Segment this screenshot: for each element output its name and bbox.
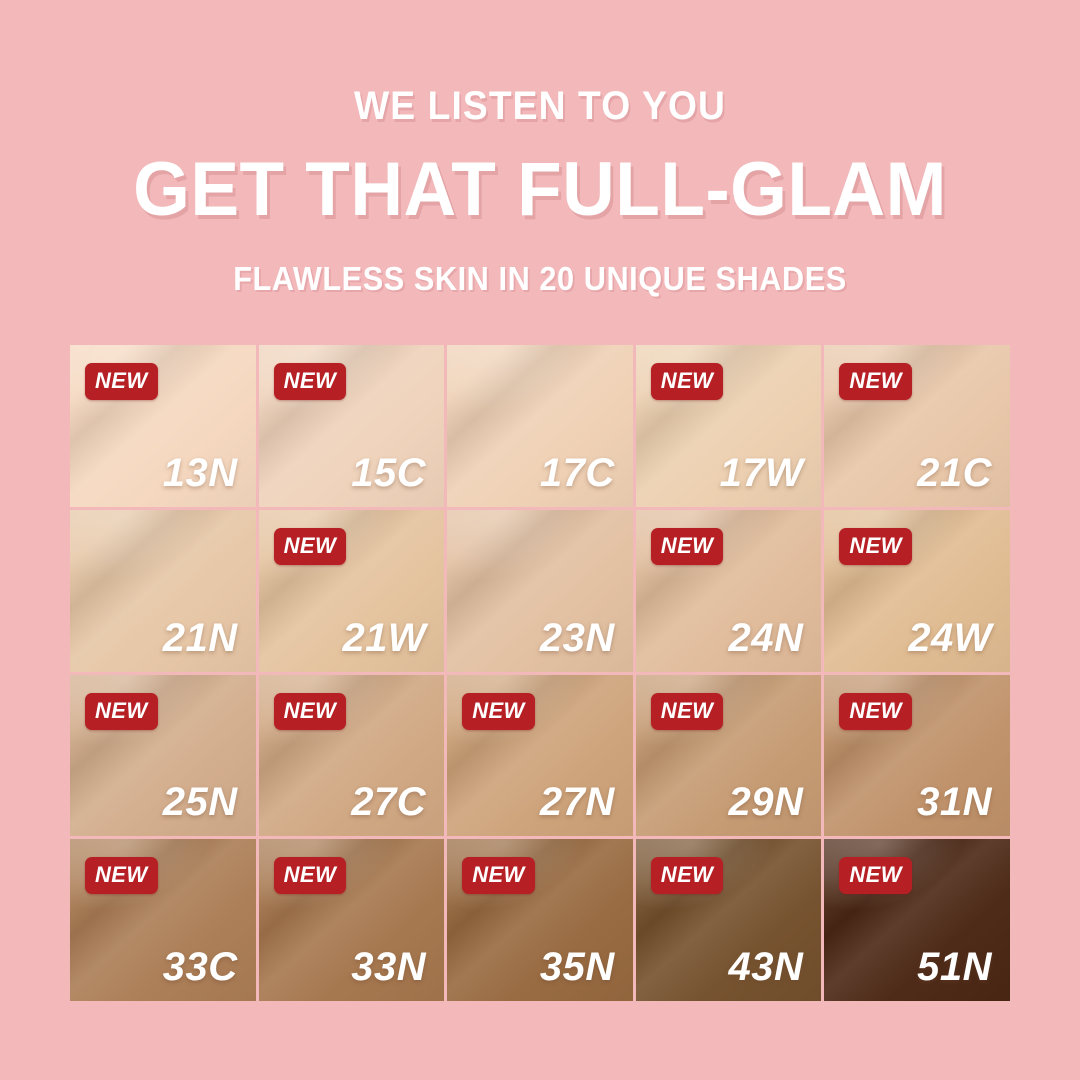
shade-label: 13N [163, 453, 238, 493]
shade-swatch[interactable]: NEW29N [636, 675, 822, 837]
shade-label: 24N [729, 618, 804, 658]
page-title: GET THAT FULL-GLAM [22, 152, 1059, 228]
shade-label: 17C [540, 453, 615, 493]
shade-swatch-grid: NEW13NNEW15CNEW17CNEW17WNEW21CNEW21NNEW2… [70, 345, 1010, 1001]
shade-label: 33N [351, 947, 426, 987]
new-badge: NEW [651, 693, 724, 730]
shade-swatch[interactable]: NEW24W [824, 510, 1010, 672]
shade-swatch[interactable]: NEW24N [636, 510, 822, 672]
shade-label: 15C [351, 453, 426, 493]
new-badge: NEW [274, 363, 347, 400]
new-badge: NEW [85, 857, 158, 894]
shade-swatch[interactable]: NEW27C [259, 675, 445, 837]
shade-swatch[interactable]: NEW23N [447, 510, 633, 672]
new-badge: NEW [651, 857, 724, 894]
shade-label: 21W [342, 618, 426, 658]
shade-swatch[interactable]: NEW21N [70, 510, 256, 672]
new-badge: NEW [85, 363, 158, 400]
shade-label: 21N [163, 618, 238, 658]
new-badge: NEW [651, 528, 724, 565]
shade-swatch[interactable]: NEW21W [259, 510, 445, 672]
shade-swatch[interactable]: NEW31N [824, 675, 1010, 837]
shade-label: 31N [917, 782, 992, 822]
shade-label: 33C [163, 947, 238, 987]
shade-swatch[interactable]: NEW21C [824, 345, 1010, 507]
shade-swatch[interactable]: NEW17W [636, 345, 822, 507]
shade-label: 29N [729, 782, 804, 822]
new-badge: NEW [839, 528, 912, 565]
shade-swatch[interactable]: NEW13N [70, 345, 256, 507]
shade-label: 21C [917, 453, 992, 493]
promo-header: WE LISTEN TO YOU GET THAT FULL-GLAM FLAW… [0, 0, 1080, 295]
subtitle-text: FLAWLESS SKIN IN 20 UNIQUE SHADES [38, 262, 1042, 295]
new-badge: NEW [274, 857, 347, 894]
shade-label: 23N [540, 618, 615, 658]
eyebrow-text: WE LISTEN TO YOU [38, 86, 1042, 126]
shade-swatch[interactable]: NEW35N [447, 839, 633, 1001]
shade-label: 51N [917, 947, 992, 987]
new-badge: NEW [274, 528, 347, 565]
new-badge: NEW [462, 693, 535, 730]
shade-label: 24W [908, 618, 992, 658]
shade-label: 27C [351, 782, 426, 822]
shade-swatch[interactable]: NEW25N [70, 675, 256, 837]
shade-label: 43N [729, 947, 804, 987]
shade-swatch[interactable]: NEW15C [259, 345, 445, 507]
shade-label: 27N [540, 782, 615, 822]
shade-swatch[interactable]: NEW43N [636, 839, 822, 1001]
new-badge: NEW [274, 693, 347, 730]
shade-label: 17W [720, 453, 804, 493]
new-badge: NEW [839, 693, 912, 730]
shade-range-promo-page: { "header": { "eyebrow": "WE LISTEN TO Y… [0, 0, 1080, 1080]
new-badge: NEW [651, 363, 724, 400]
shade-swatch[interactable]: NEW33C [70, 839, 256, 1001]
shade-swatch[interactable]: NEW27N [447, 675, 633, 837]
new-badge: NEW [462, 857, 535, 894]
shade-swatch[interactable]: NEW51N [824, 839, 1010, 1001]
new-badge: NEW [839, 363, 912, 400]
shade-label: 35N [540, 947, 615, 987]
new-badge: NEW [839, 857, 912, 894]
shade-label: 25N [163, 782, 238, 822]
new-badge: NEW [85, 693, 158, 730]
shade-swatch[interactable]: NEW33N [259, 839, 445, 1001]
shade-swatch[interactable]: NEW17C [447, 345, 633, 507]
